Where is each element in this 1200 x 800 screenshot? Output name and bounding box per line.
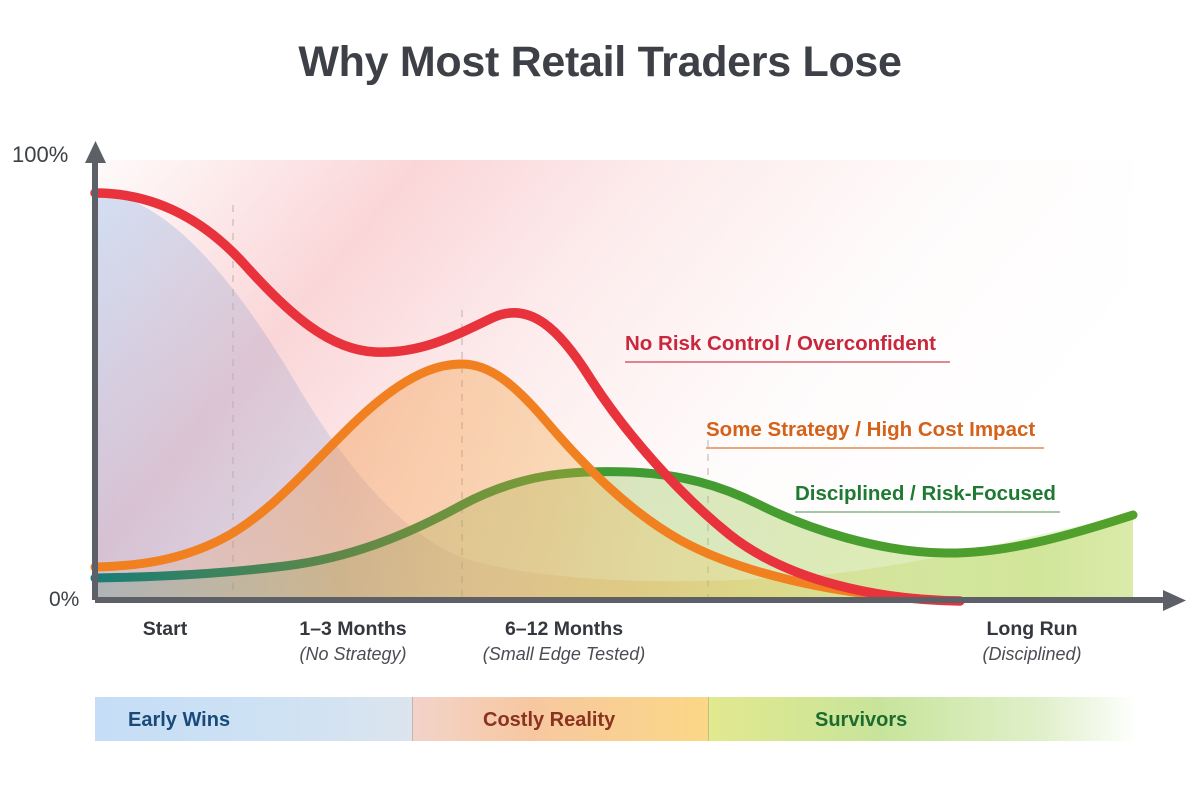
phase-label-survivors: Survivors (815, 709, 907, 732)
x-tick-label-main: 6–12 Months (444, 618, 684, 641)
plot-area (0, 0, 1200, 800)
legend-label-disciplined: Disciplined / Risk-Focused (795, 482, 1056, 506)
phase-bar: Early Wins Costly Reality Survivors (95, 697, 1138, 741)
x-tick-label-sub: (Small Edge Tested) (444, 644, 684, 665)
phase-segment-survivors (708, 697, 1138, 741)
phase-label-costly-reality: Costly Reality (483, 709, 615, 732)
x-tick-label-sub: (No Strategy) (233, 644, 473, 665)
x-tick-label-main: 1–3 Months (233, 618, 473, 641)
legend-underline-no-risk-control (625, 361, 950, 363)
legend-underline-some-strategy (706, 447, 1044, 449)
legend-label-no-risk-control: No Risk Control / Overconfident (625, 332, 936, 356)
x-axis-tick-long-run: Long Run (Disciplined) (912, 618, 1152, 665)
legend-label-some-strategy: Some Strategy / High Cost Impact (706, 418, 1035, 442)
y-axis-tick-0: 0% (49, 588, 79, 612)
phase-divider-2 (708, 697, 709, 741)
legend-underline-disciplined (795, 511, 1060, 513)
x-tick-label-sub: (Disciplined) (912, 644, 1152, 665)
chart-canvas: Why Most Retail Traders Lose (0, 0, 1200, 800)
x-tick-label-main: Long Run (912, 618, 1152, 641)
x-axis-tick-6-12-months: 6–12 Months (Small Edge Tested) (444, 618, 684, 665)
x-axis-tick-1-3-months: 1–3 Months (No Strategy) (233, 618, 473, 665)
phase-bar-background (95, 697, 1138, 741)
y-axis-tick-100: 100% (12, 142, 68, 168)
phase-label-early-wins: Early Wins (128, 709, 230, 732)
phase-divider-1 (412, 697, 413, 741)
